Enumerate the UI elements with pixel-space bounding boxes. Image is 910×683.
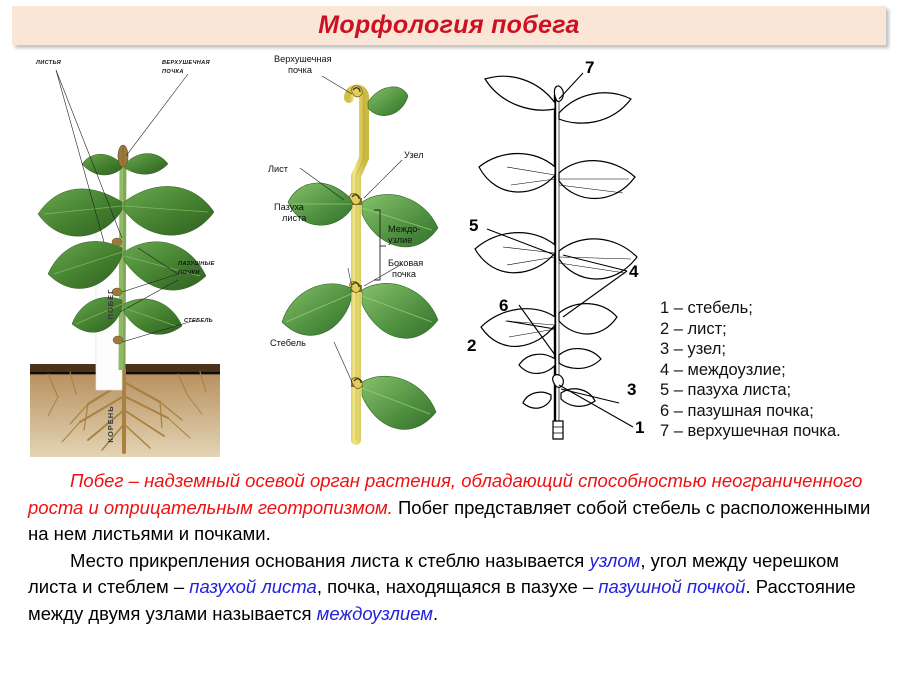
figure3-number-1: 1 xyxy=(635,418,644,437)
figure1-svg: ЛИСТЬЯ ВЕРХУШЕЧНАЯ ПОЧКА ПАЗУШНЫЕ ПОЧКИ … xyxy=(18,52,233,457)
label-apical-bud-line1: ВЕРХУШЕЧНАЯ xyxy=(162,60,211,66)
figure-photo-shoot-root: ЛИСТЬЯ ВЕРХУШЕЧНАЯ ПОЧКА ПАЗУШНЫЕ ПОЧКИ … xyxy=(18,52,233,457)
terms-text-c: , почка, находящаяся в пазухе – xyxy=(317,576,599,597)
lineart-plant xyxy=(475,76,637,439)
label-node: Узел xyxy=(404,150,424,160)
label-apical-bud-line2: ПОЧКА xyxy=(162,69,184,75)
label-leaves: ЛИСТЬЯ xyxy=(35,60,62,66)
figure-line-art-shoot: 7 5 4 6 2 3 1 xyxy=(455,55,670,455)
legend-item-2: 2 – лист; xyxy=(660,319,900,340)
legend-item-5: 5 – пазуха листа; xyxy=(660,380,900,401)
label-shoot-vertical: ПОБЕГ xyxy=(106,289,115,320)
slide-root: Морфология побега xyxy=(0,0,910,683)
label-stem: СТЕБЕЛЬ xyxy=(184,318,213,324)
figure3-number-7: 7 xyxy=(585,58,594,77)
label-leaf: Лист xyxy=(268,164,289,174)
label-axil-line2: листа xyxy=(282,213,307,223)
label-lateral-bud-line2: почка xyxy=(392,269,417,279)
legend-item-7: 7 – верхушечная почка. xyxy=(660,421,900,442)
figure-shoot-structure-diagram: Верхушечная почка Лист Узел Пазуха листа… xyxy=(252,50,452,460)
apical-bud xyxy=(118,145,128,167)
body-text-block: Побег – надземный осевой орган растения,… xyxy=(28,468,888,627)
figure3-svg: 7 5 4 6 2 3 1 xyxy=(455,55,670,455)
figure3-number-5: 5 xyxy=(469,216,478,235)
figure3-number-6: 6 xyxy=(499,296,508,315)
label-root-vertical: КОРЕНЬ xyxy=(106,405,115,442)
figure3-number-3: 3 xyxy=(627,380,636,399)
figure2-svg: Верхушечная почка Лист Узел Пазуха листа… xyxy=(252,50,452,460)
paragraph-terms: Место прикрепления основания листа к сте… xyxy=(28,548,888,628)
terms-text-e: . xyxy=(433,603,438,624)
legend-item-4: 4 – междоузлие; xyxy=(660,360,900,381)
label-axil-line1: Пазуха xyxy=(274,202,305,212)
paragraph-definition: Побег – надземный осевой орган растения,… xyxy=(28,468,888,548)
term-leaf-axil: пазухой листа xyxy=(189,576,317,597)
figure3-number-2: 2 xyxy=(467,336,476,355)
label-internode-line2: узлие xyxy=(388,235,412,245)
term-internode: междоузлием xyxy=(317,603,433,624)
label-lateral-bud-line1: Боковая xyxy=(388,258,423,268)
label-axillary-buds-line2: ПОЧКИ xyxy=(178,270,200,276)
label-internode-line1: Междо- xyxy=(388,224,420,234)
title-banner: Морфология побега xyxy=(12,6,886,45)
soil-block xyxy=(30,364,220,457)
page-title: Морфология побега xyxy=(318,11,579,40)
label-apical-bud-line1: Верхушечная xyxy=(274,54,332,64)
legend-item-1: 1 – стебель; xyxy=(660,298,900,319)
label-axillary-buds-line1: ПАЗУШНЫЕ xyxy=(178,261,215,267)
label-stem: Стебель xyxy=(270,338,306,348)
figure3-number-4: 4 xyxy=(629,262,639,281)
terms-text-a: Место прикрепления основания листа к сте… xyxy=(70,550,589,571)
term-axillary-bud: пазушной почкой xyxy=(598,576,745,597)
legend-list: 1 – стебель; 2 – лист; 3 – узел; 4 – меж… xyxy=(660,298,900,442)
legend-item-6: 6 – пазушная почка; xyxy=(660,401,900,422)
legend-item-3: 3 – узел; xyxy=(660,339,900,360)
term-node: узлом xyxy=(589,550,640,571)
label-apical-bud-line2: почка xyxy=(288,65,313,75)
